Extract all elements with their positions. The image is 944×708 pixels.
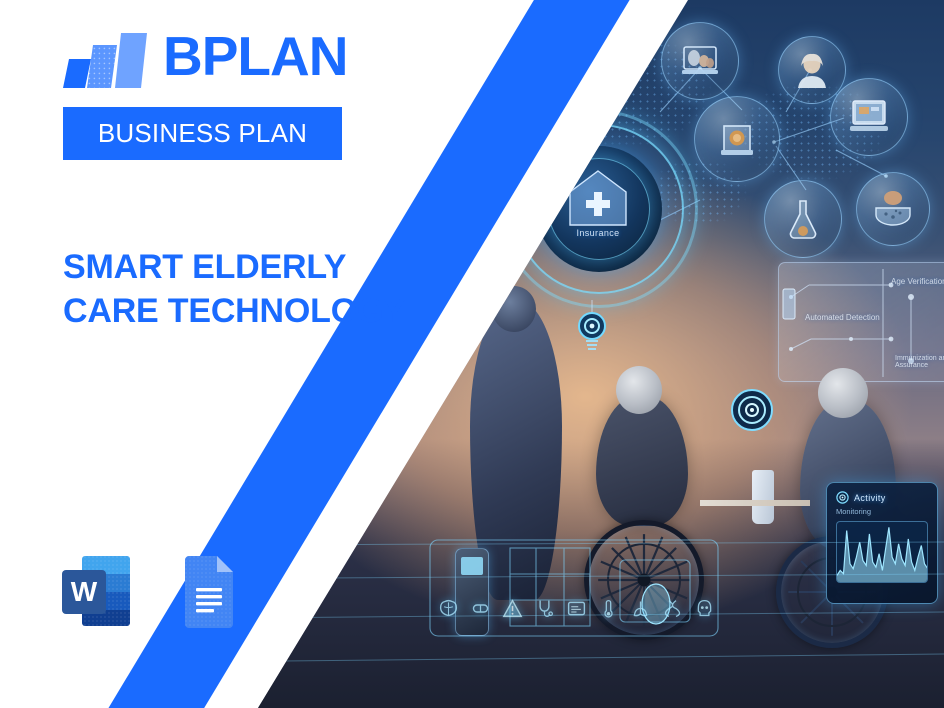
hud-panel-label-2: Immunization and Assurance [895,355,944,369]
word-icon-letter: W [71,576,98,607]
brand-name: BPLAN [163,29,347,84]
bar-chart-logo-icon [63,32,159,90]
page-title-line-2: CARE TECHNOLOGY [63,290,406,334]
brain-scan-icon [438,598,459,619]
business-plan-cover: Insurance [0,0,944,708]
bubble-node-monitor [830,78,908,156]
home-medical-cross-icon [566,168,630,233]
ribbon-label: BUSINESS PLAN [98,118,307,149]
hud-panel-label-1: Automated Detection [805,313,880,322]
tablet-devices-icon [680,44,720,78]
bubble-node-sample-cube [694,96,780,182]
idea-lightbulb-icon [572,300,612,360]
senior-left-head [616,366,662,414]
senior-person-icon [795,52,829,88]
bubble-node-flask [764,180,842,258]
desktop-monitor-icon [848,99,890,135]
target-focus-icon [730,388,774,432]
business-plan-ribbon: BUSINESS PLAN [63,107,342,160]
warning-triangle-icon [502,598,523,619]
home-badge-label: Insurance [528,228,668,238]
google-docs-icon[interactable] [181,552,237,628]
bubble-node-senior-portrait [778,36,846,104]
lungs-icon [630,598,651,619]
caregiver-head [492,286,536,332]
hud-panel-analytics: Age Verification Automated Detection Imm… [778,262,944,382]
health-record-icon [566,598,587,619]
dna-strand-icon [662,598,683,619]
senior-right-head [818,368,868,418]
file-format-icons: W [60,552,237,630]
stethoscope-icon [534,598,555,619]
page-title: SMART ELDERLY CARE TECHNOLOGY [63,246,406,333]
bottom-glyph-row [438,598,715,619]
word-doc-icon[interactable]: W [60,552,134,630]
pill-capsule-icon [470,598,491,619]
skull-scan-icon [694,598,715,619]
petri-dish-icon [873,190,913,228]
page-title-line-1: SMART ELDERLY [63,246,406,290]
lab-flask-icon [785,198,821,240]
bubble-node-tablet-devices [661,22,739,100]
bubble-node-petri-dish [856,172,930,246]
hud-panel-label-0: Age Verification [891,277,944,286]
specimen-cube-icon [715,117,759,161]
thermometer-icon [598,598,619,619]
